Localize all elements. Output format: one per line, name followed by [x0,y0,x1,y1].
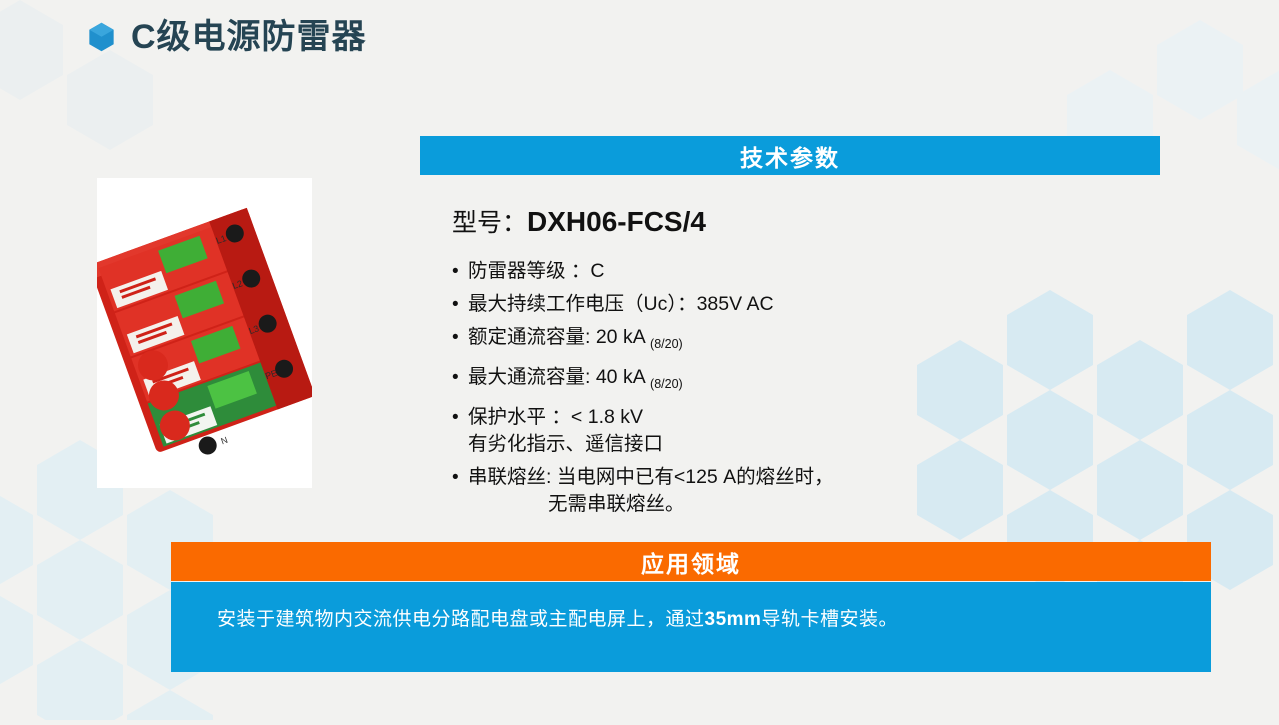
hexagon-icon [88,22,115,52]
spec-main: 最大通流容量: 40 kA [468,366,650,388]
spec-text-line2: 有劣化指示、遥信接口 [468,431,663,458]
spec-subscript: (8/20) [650,377,683,391]
bullet-icon: • [452,258,468,285]
bullet-icon: • [452,464,468,491]
spec-item: • 防雷器等级 ：C [452,258,972,285]
tech-params-title: 技术参数 [740,139,840,173]
application-box: 安装于建筑物内交流供电分路配电盘或主配电屏上，通过35mm导轨卡槽安装。 [171,582,1211,672]
svg-text:N: N [219,435,229,447]
spec-subscript: (8/20) [650,337,683,351]
spec-item: • 额定通流容量: 20 kA (8/20) [452,324,972,358]
spec-main: 额定通流容量: 20 kA [468,326,650,348]
model-label: 型号： [452,209,527,237]
spec-list: • 防雷器等级 ：C • 最大持续工作电压（Uc）：385V AC • 额定通流… [452,258,972,524]
model-line: 型号：DXH06-FCS/4 [452,203,706,239]
spec-text: 最大持续工作电压（Uc）：385V AC [468,291,774,318]
spec-text-block: 串联熔丝: 当电网中已有<125 A的熔丝时， 无需串联熔丝。 [468,464,834,518]
page-title: C级电源防雷器 [131,20,367,54]
application-title: 应用领域 [641,545,741,579]
spec-text: 额定通流容量: 20 kA (8/20) [468,324,683,358]
application-text: 安装于建筑物内交流供电分路配电盘或主配电屏上，通过35mm导轨卡槽安装。 [217,604,898,631]
tech-params-banner: 技术参数 [420,136,1160,175]
spec-item: • 保护水平 ：< 1.8 kV 有劣化指示、遥信接口 [452,404,972,458]
application-text-suffix: 导轨卡槽安装。 [761,609,898,630]
bullet-icon: • [452,324,468,351]
bullet-icon: • [452,364,468,391]
spec-text: 防雷器等级 ：C [468,258,605,285]
spec-item: • 最大通流容量: 40 kA (8/20) [452,364,972,398]
spec-item: • 串联熔丝: 当电网中已有<125 A的熔丝时， 无需串联熔丝。 [452,464,972,518]
application-banner: 应用领域 [171,542,1211,581]
spec-text: 串联熔丝: 当电网中已有<125 A的熔丝时， [468,464,834,491]
spec-text: 最大通流容量: 40 kA (8/20) [468,364,683,398]
bullet-icon: • [452,291,468,318]
bullet-icon: • [452,404,468,431]
page-header: C级电源防雷器 [88,20,367,54]
model-value: DXH06-FCS/4 [527,206,706,237]
spec-item: • 最大持续工作电压（Uc）：385V AC [452,291,972,318]
application-text-bold: 35mm [705,609,762,630]
product-illustration: L1 L2 L3 PE N [97,178,312,488]
application-text-prefix: 安装于建筑物内交流供电分路配电盘或主配电屏上，通过 [217,609,705,630]
spec-text-line2: 无需串联熔丝。 [468,491,834,518]
spec-text: 保护水平 ：< 1.8 kV [468,404,663,431]
surge-protector-photo: L1 L2 L3 PE N [97,178,312,488]
spec-text-block: 保护水平 ：< 1.8 kV 有劣化指示、遥信接口 [468,404,663,458]
